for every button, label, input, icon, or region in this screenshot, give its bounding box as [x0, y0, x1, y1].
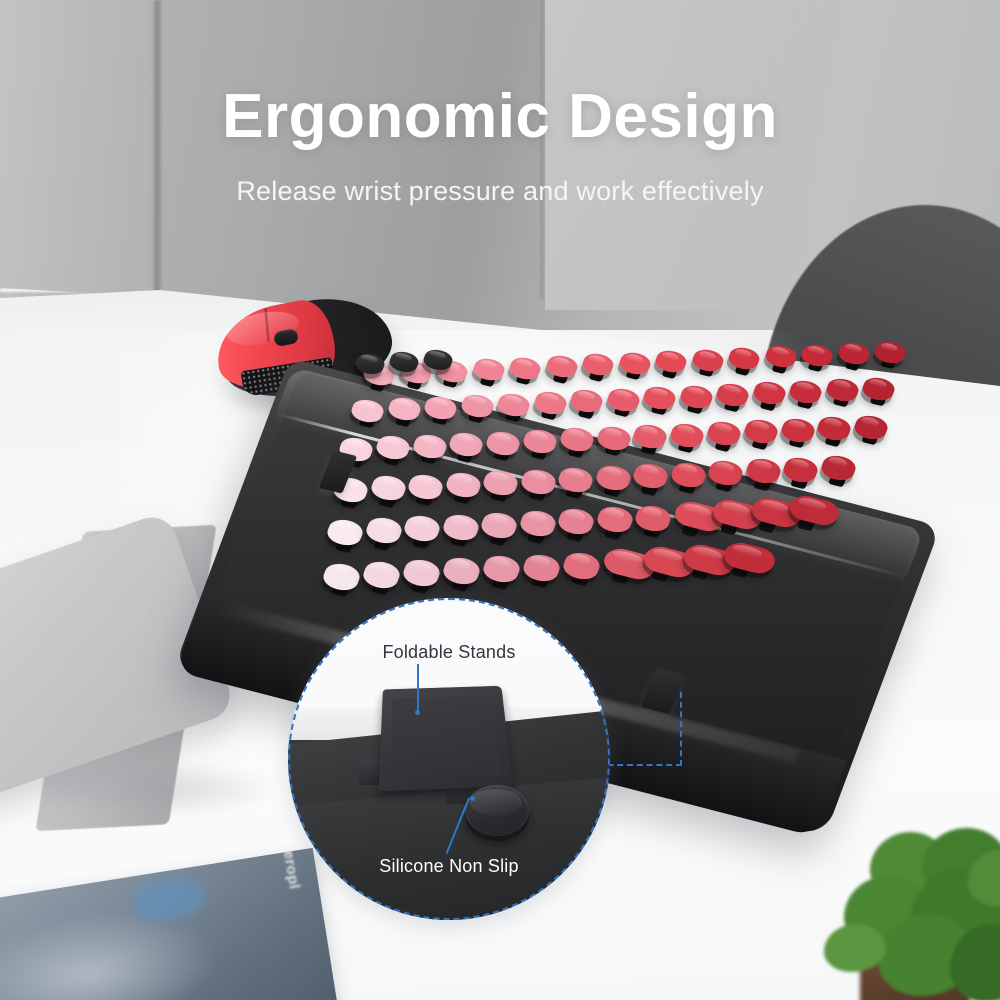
keycap [531, 389, 569, 417]
keycap [815, 414, 854, 444]
keycap [653, 348, 689, 375]
keycap [604, 386, 642, 414]
monitor-shadow [40, 760, 280, 818]
keycap [580, 351, 616, 378]
keycap [689, 346, 725, 373]
leader-line-top [417, 664, 419, 712]
product-marketing-image: American aeropl Ergonom [0, 0, 1000, 1000]
keycap [507, 354, 543, 381]
leader-dot-top [415, 710, 420, 715]
page-title: Ergonomic Design [0, 86, 1000, 148]
callout-connector-vertical [680, 692, 682, 766]
keycap [677, 382, 715, 410]
keycap [780, 454, 820, 485]
keycap [872, 338, 908, 365]
leader-dot-bottom [470, 796, 475, 801]
keycap [823, 376, 861, 404]
callout-foldable-stand [379, 686, 513, 792]
callout-label-silicone-non-slip: Silicone Non Slip [288, 856, 610, 877]
keycap [750, 379, 788, 407]
keycap [568, 387, 606, 415]
keycap [704, 419, 743, 449]
keycap [641, 384, 679, 412]
keycap [787, 378, 825, 406]
callout-label-foldable-stands: Foldable Stands [288, 642, 610, 663]
keycap [778, 415, 817, 445]
keycap [741, 417, 780, 447]
keycap [860, 374, 898, 402]
keycap [470, 356, 506, 383]
potted-plant [818, 828, 1000, 1000]
keycap [799, 342, 835, 369]
keycap [714, 381, 752, 409]
keycap [762, 343, 798, 370]
keycap [818, 452, 858, 483]
keycap [616, 350, 652, 377]
keycap [726, 345, 762, 372]
keycap [543, 353, 579, 380]
keycap [668, 420, 707, 450]
feature-callout: Foldable Stands Silicone Non Slip [288, 598, 610, 920]
keycap [852, 412, 891, 442]
keycap [835, 340, 871, 367]
callout-stand-inner [390, 695, 501, 780]
page-subtitle: Release wrist pressure and work effectiv… [0, 176, 1000, 207]
callout-circle: Foldable Stands Silicone Non Slip [288, 598, 610, 920]
callout-pad-highlight [470, 789, 522, 816]
magazine-blue-accent [131, 874, 206, 924]
